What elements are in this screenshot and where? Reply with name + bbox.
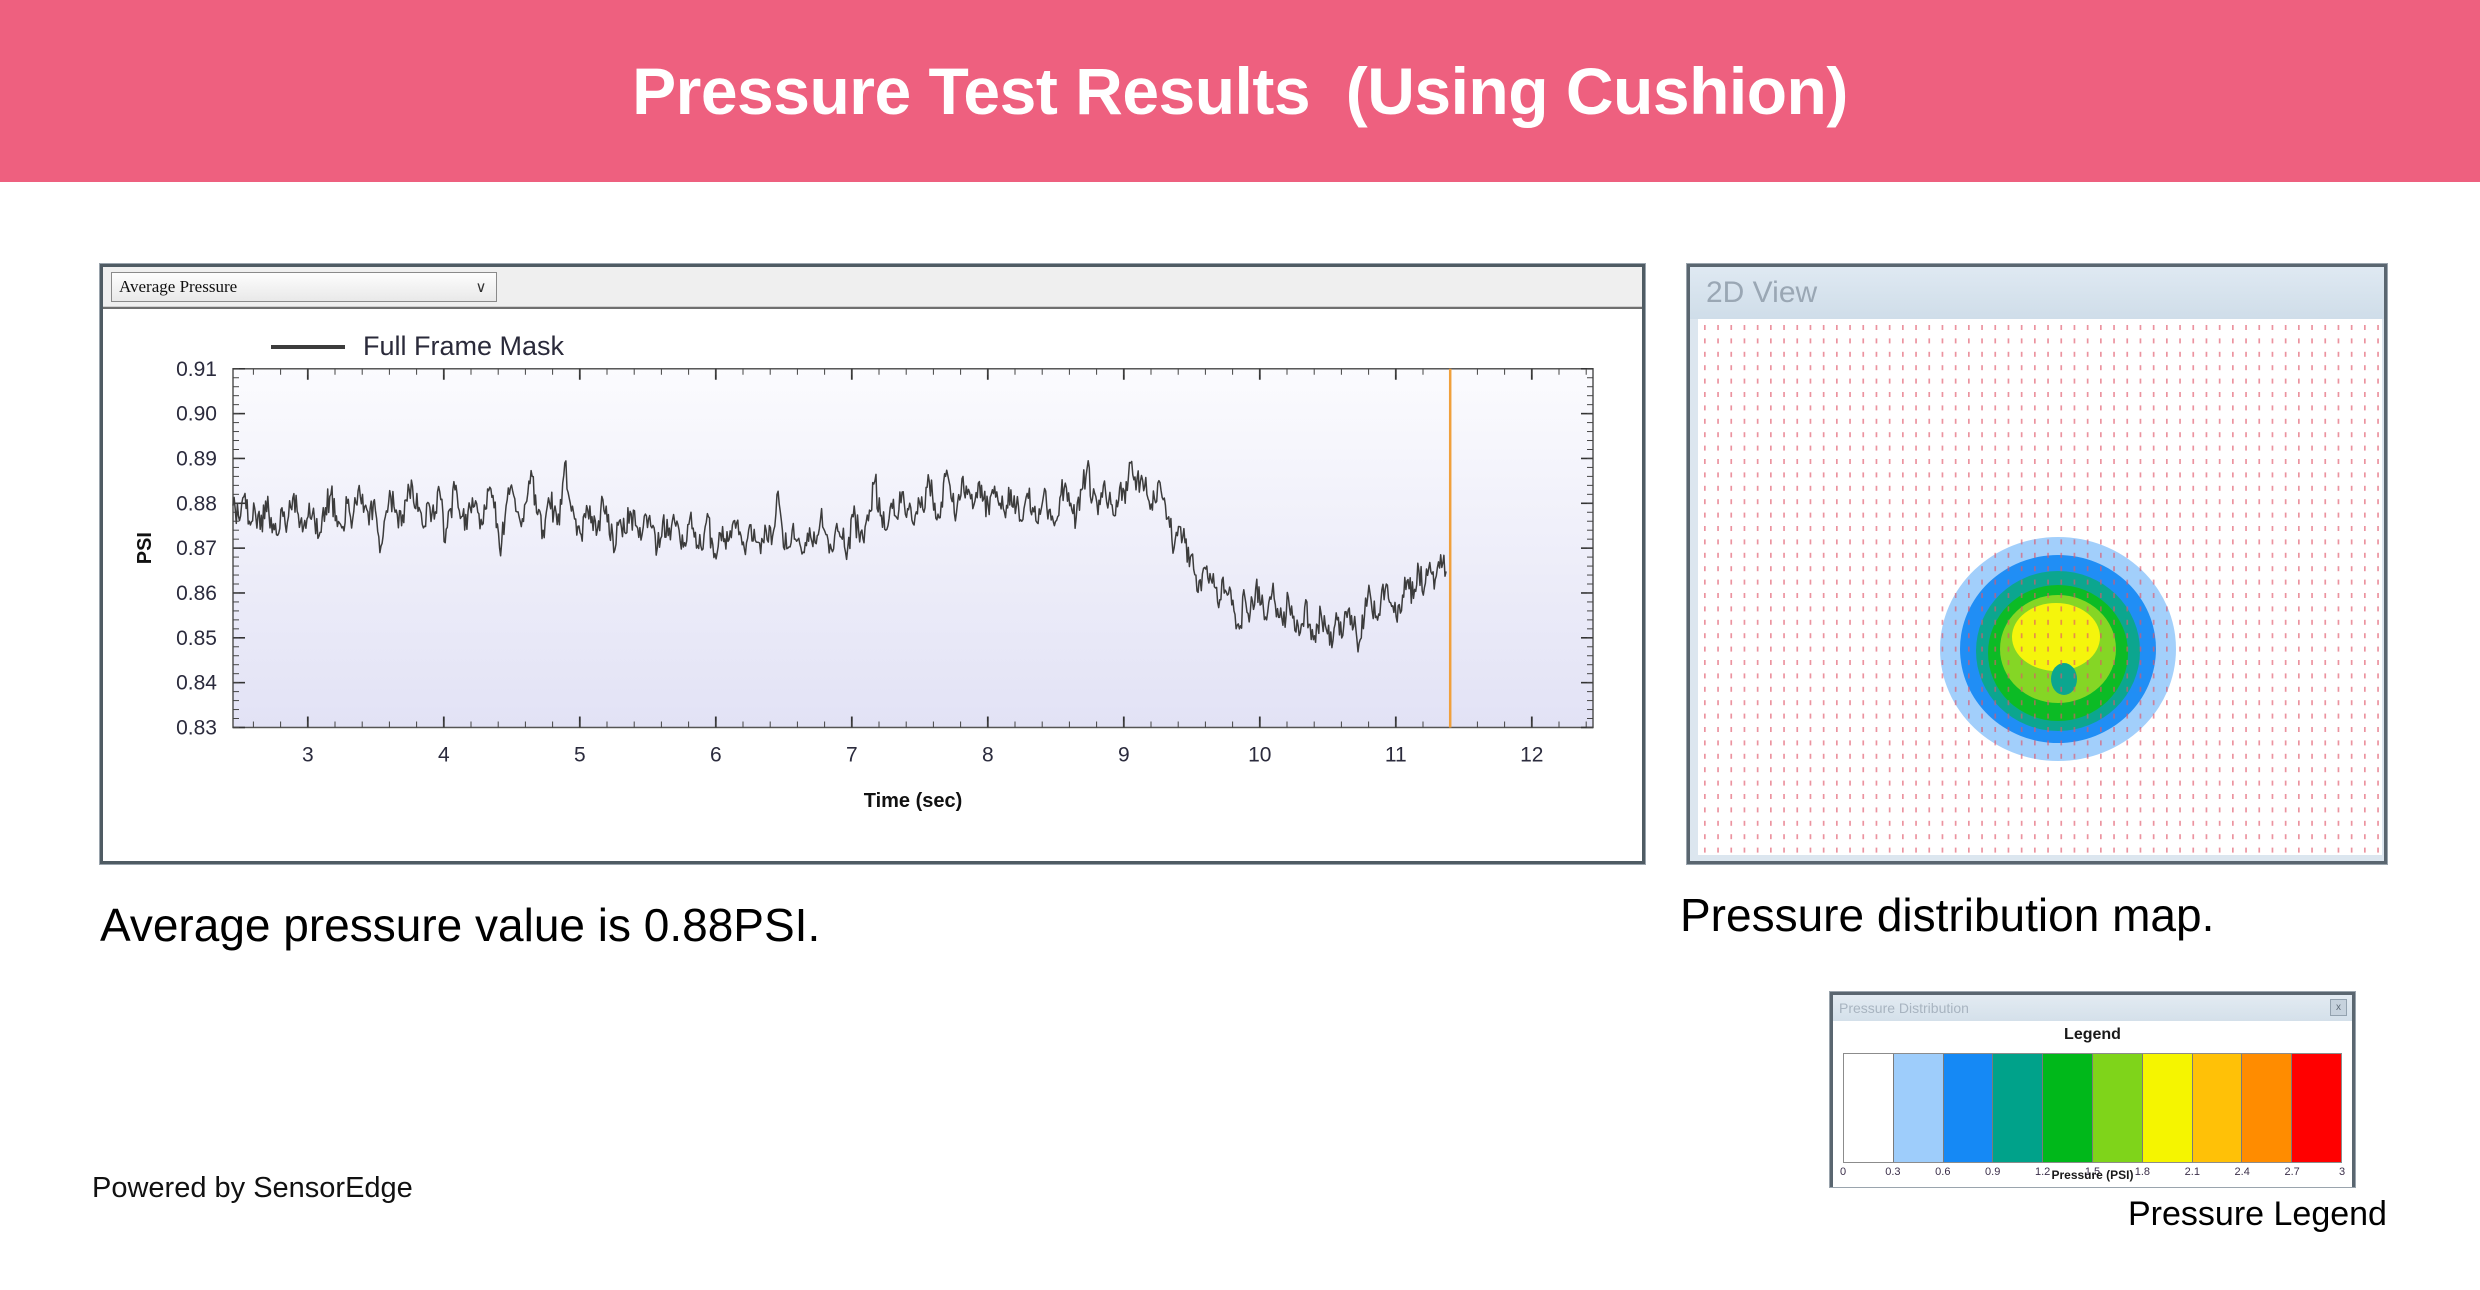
svg-text:0.87: 0.87 xyxy=(176,537,217,560)
page-title: Pressure Test Results (Using Cushion) xyxy=(632,53,1848,129)
svg-text:11: 11 xyxy=(1385,743,1407,766)
legend-swatch-7 xyxy=(2193,1054,2243,1162)
svg-text:6: 6 xyxy=(710,743,722,766)
slide-root: Pressure Test Results (Using Cushion) Av… xyxy=(0,0,2480,1290)
legend-swatch-5 xyxy=(2093,1054,2143,1162)
svg-text:0.83: 0.83 xyxy=(176,716,217,739)
svg-text:12: 12 xyxy=(1520,743,1543,766)
legend-swatch-2 xyxy=(1944,1054,1994,1162)
svg-text:0.90: 0.90 xyxy=(176,403,217,426)
svg-text:7: 7 xyxy=(846,743,858,766)
right-caption: Pressure distribution map. xyxy=(1680,888,2214,942)
legend-x-axis-label: Pressure (PSI) xyxy=(1833,1168,2352,1182)
legend-content: Legend 00.30.60.91.21.51.82.12.42.73 Pre… xyxy=(1833,1021,2352,1187)
svg-text:8: 8 xyxy=(982,743,994,766)
legend-swatch-0 xyxy=(1844,1054,1894,1162)
pressure-heatmap-canvas[interactable] xyxy=(1698,319,2382,855)
svg-text:10: 10 xyxy=(1248,743,1271,766)
svg-text:0.88: 0.88 xyxy=(176,492,217,515)
legend-titlebar: Pressure Distribution x xyxy=(1833,995,2352,1021)
legend-swatch-6 xyxy=(2143,1054,2193,1162)
average-pressure-dropdown[interactable]: Average Pressure ∨ xyxy=(111,272,497,302)
pressure-legend-window: Pressure Distribution x Legend 00.30.60.… xyxy=(1830,992,2355,1187)
chart-plot-area: Full Frame Mask 0.830.840.850.860.870.88… xyxy=(103,307,1642,861)
left-caption: Average pressure value is 0.88PSI. xyxy=(100,898,820,952)
legend-swatch-9 xyxy=(2292,1054,2341,1162)
legend-swatch-8 xyxy=(2242,1054,2292,1162)
svg-text:0.85: 0.85 xyxy=(176,627,217,650)
svg-text:5: 5 xyxy=(574,743,586,766)
pressure-line-chart: 0.830.840.850.860.870.880.890.900.91 345… xyxy=(103,309,1642,861)
title-banner: Pressure Test Results (Using Cushion) xyxy=(0,0,2480,182)
svg-text:4: 4 xyxy=(438,743,450,766)
legend-caption: Pressure Legend xyxy=(2128,1195,2387,1234)
legend-color-bar xyxy=(1843,1053,2342,1163)
x-axis-label: Time (sec) xyxy=(864,790,963,812)
svg-text:0.89: 0.89 xyxy=(176,447,217,470)
twod-view-window: 2D View xyxy=(1687,264,2387,864)
svg-text:0.84: 0.84 xyxy=(176,672,217,695)
svg-text:0.91: 0.91 xyxy=(176,358,217,381)
close-icon[interactable]: x xyxy=(2330,999,2347,1016)
chevron-down-icon[interactable]: ∨ xyxy=(466,278,496,296)
chart-toolbar: Average Pressure ∨ xyxy=(103,267,1642,307)
pressure-chart-window: Average Pressure ∨ Full Frame Mask 0.830… xyxy=(100,264,1645,864)
legend-swatch-4 xyxy=(2043,1054,2093,1162)
footer-powered-by: Powered by SensorEdge xyxy=(92,1172,413,1205)
dropdown-selected-label: Average Pressure xyxy=(112,277,466,297)
twod-view-titlebar: 2D View xyxy=(1690,267,2384,319)
y-axis-label: PSI xyxy=(134,532,156,564)
legend-swatch-3 xyxy=(1993,1054,2043,1162)
pressure-heatmap xyxy=(1698,319,2382,855)
legend-heading: Legend xyxy=(1833,1026,2352,1044)
svg-text:0.86: 0.86 xyxy=(176,582,217,605)
legend-swatch-1 xyxy=(1894,1054,1944,1162)
twod-view-title: 2D View xyxy=(1690,276,1817,310)
svg-text:9: 9 xyxy=(1118,743,1130,766)
legend-window-title: Pressure Distribution xyxy=(1833,1000,1969,1016)
svg-text:3: 3 xyxy=(302,743,314,766)
